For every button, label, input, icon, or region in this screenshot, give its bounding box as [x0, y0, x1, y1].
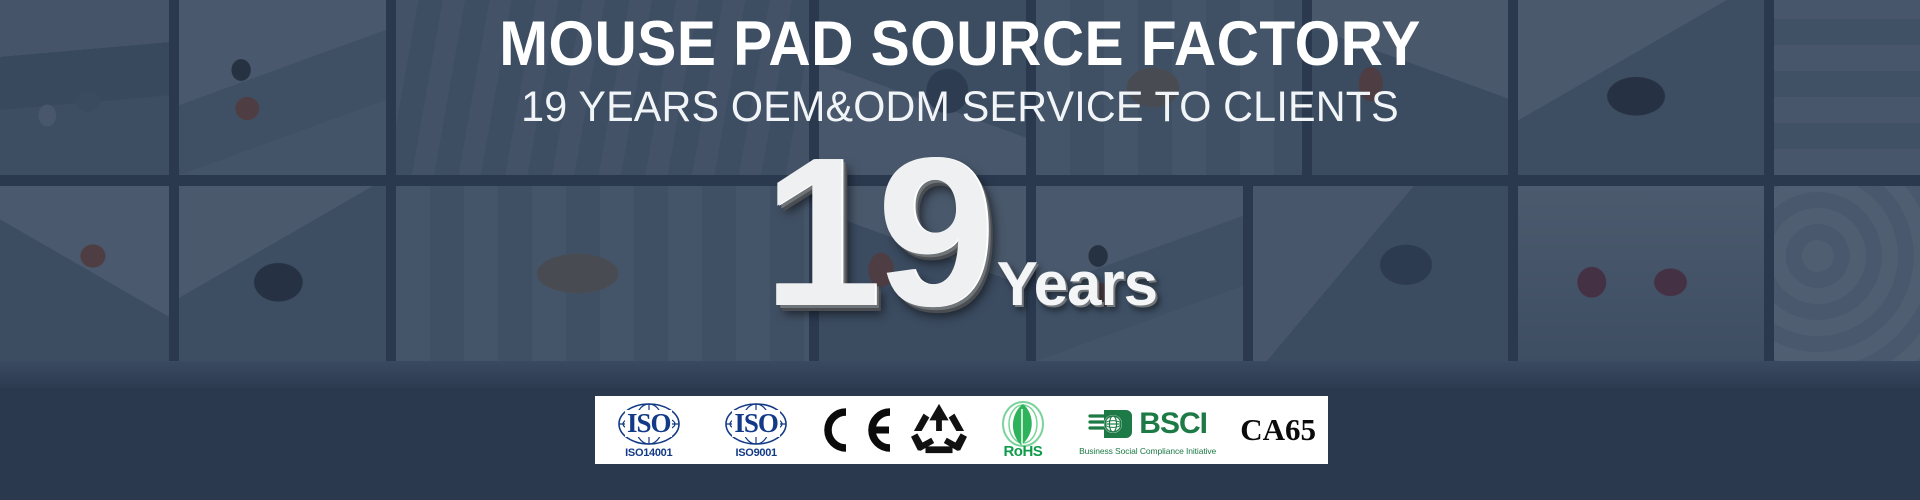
recycle-icon: [908, 402, 970, 458]
anniversary-number: 19: [763, 132, 991, 332]
cert-rohs: RoHS: [979, 399, 1067, 461]
cert-recycle: [900, 399, 979, 461]
cert-bsci: BSCI Business Social Compliance Initiati…: [1067, 399, 1228, 461]
ca65-label: CA65: [1240, 412, 1316, 448]
iso-globe-icon: ISO: [713, 402, 799, 446]
bsci-row: BSCI: [1088, 404, 1207, 444]
cert-ce: [810, 399, 900, 461]
iso14001-mark: ISO: [625, 410, 673, 437]
certification-bar: ISO ISO14001 ISO ISO9001: [595, 396, 1328, 464]
bsci-label: BSCI: [1139, 409, 1207, 439]
anniversary-word: Years: [997, 254, 1158, 316]
bsci-caption: Business Social Compliance Initiative: [1079, 446, 1216, 456]
iso14001-caption: ISO14001: [625, 447, 672, 459]
rohs-label: RoHS: [1003, 443, 1042, 460]
cert-ca65: CA65: [1228, 399, 1328, 461]
promo-banner: MOUSE PAD SOURCE FACTORY 19 YEARS OEM&OD…: [0, 0, 1920, 500]
cert-iso14001: ISO ISO14001: [595, 399, 702, 461]
iso9001-mark: ISO: [732, 410, 780, 437]
cert-iso9001: ISO ISO9001: [702, 399, 809, 461]
ce-mark-icon: [812, 405, 898, 455]
floor-reflection: [0, 361, 1920, 391]
iso-globe-icon: ISO: [606, 402, 692, 446]
iso9001-caption: ISO9001: [736, 447, 777, 459]
banner-title: MOUSE PAD SOURCE FACTORY: [67, 8, 1853, 80]
anniversary-block: 19 Years: [0, 132, 1920, 332]
bsci-hand-globe-icon: [1088, 404, 1136, 444]
